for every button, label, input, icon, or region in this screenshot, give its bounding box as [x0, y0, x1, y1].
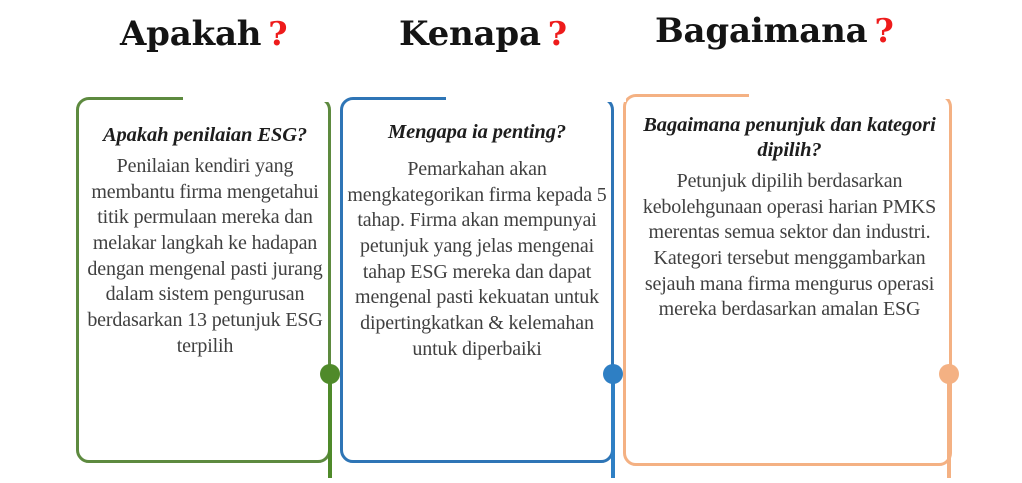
card-content-bagaimana: Bagaimana penunjuk dan kategori dipilih?… — [632, 113, 947, 323]
column-heading-bagaimana: Bagaimana? — [655, 11, 894, 51]
question-mark-icon: ? — [548, 14, 567, 53]
column-heading-apakah: Apakah? — [120, 14, 287, 54]
card-title: Bagaimana penunjuk dan kategori dipilih? — [632, 113, 947, 163]
heading-label: Kenapa — [399, 14, 541, 54]
question-mark-icon: ? — [268, 14, 287, 53]
column-heading-kenapa: Kenapa? — [399, 14, 567, 54]
top-edge-gap-apakah — [183, 93, 341, 102]
infographic-canvas: Apakah? Kenapa? Bagaimana? Apakah penila… — [0, 0, 1022, 483]
heading-label: Bagaimana — [655, 11, 867, 51]
card-content-apakah: Apakah penilaian ESG? Penilaian kendiri … — [86, 123, 324, 360]
card-title: Apakah penilaian ESG? — [86, 123, 324, 148]
top-edge-gap-kenapa — [446, 93, 626, 102]
pin-dot-icon — [603, 364, 623, 384]
pin-stem — [328, 374, 332, 478]
card-text: Petunjuk dipilih berdasarkan kebolehguna… — [632, 169, 947, 323]
card-content-kenapa: Mengapa ia penting? Pemarkahan akan meng… — [346, 120, 608, 363]
top-edge-gap-bagaimana — [749, 90, 959, 99]
pin-stem — [611, 374, 615, 478]
pin-dot-icon — [939, 364, 959, 384]
card-text: Penilaian kendiri yang membantu firma me… — [86, 154, 324, 360]
question-mark-icon: ? — [874, 11, 893, 50]
card-title: Mengapa ia penting? — [346, 120, 608, 145]
card-text: Pemarkahan akan mengkategorikan firma ke… — [346, 157, 608, 363]
heading-label: Apakah — [120, 14, 261, 54]
pin-dot-icon — [320, 364, 340, 384]
pin-stem — [947, 374, 951, 478]
